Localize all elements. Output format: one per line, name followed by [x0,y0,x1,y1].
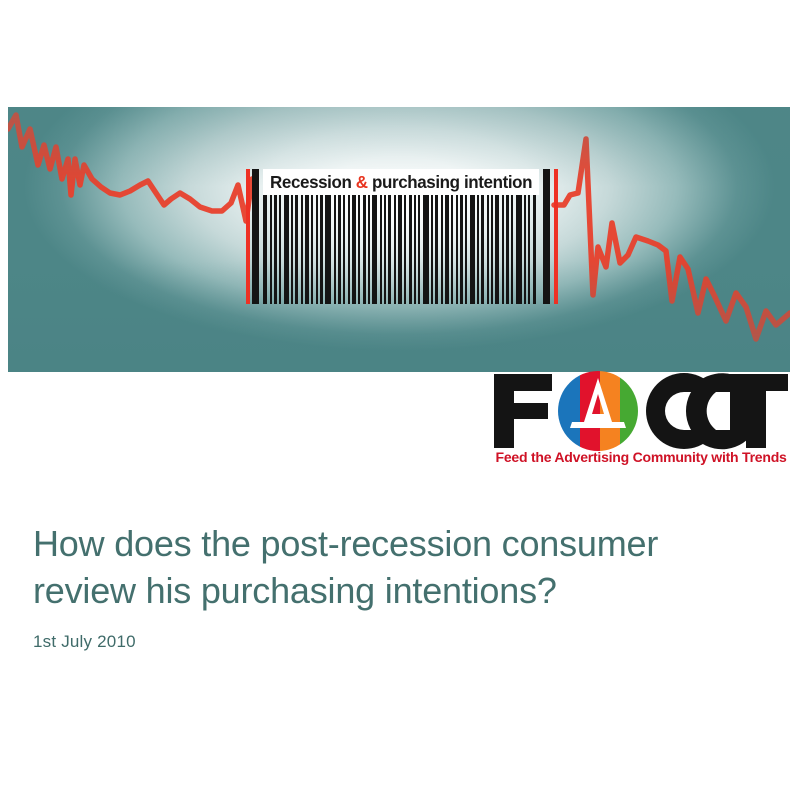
barcode-bar [305,195,309,304]
barcode-bar [394,195,396,304]
barcode-bar [320,195,323,304]
barcode-bar [511,195,513,304]
logo-emblem-a-gap [570,422,626,428]
barcode-bar [352,195,356,304]
barcode-bar [368,195,370,304]
barcode-guard-left-red [246,169,250,304]
barcode-bar [372,195,377,304]
barcode-bar [325,195,331,304]
barcode-bar [456,195,458,304]
barcode-bar [338,195,341,304]
barcode-bar [524,195,526,304]
title-block: How does the post-recession consumer rev… [33,520,773,652]
barcode-bar [470,195,475,304]
barcode-bar [423,195,429,304]
barcode-bar [384,195,386,304]
barcode-bar [431,195,433,304]
page-title-line-2: review his purchasing intentions? [33,567,773,614]
barcode-bar [363,195,366,304]
barcode-bar [487,195,489,304]
fact-wordmark-svg [488,370,794,452]
barcode-bar [435,195,438,304]
barcode-title-text: Recession & purchasing intention [270,172,532,193]
barcode-bar [465,195,467,304]
logo-emblem-a-circle [556,370,642,452]
barcode-bar [295,195,298,304]
barcode-bar [284,195,289,304]
fact-logo: Feed the Advertising Community with Tren… [488,370,794,475]
barcode-bar [414,195,416,304]
barcode-title-ampersand: & [356,172,368,192]
slide-date: 1st July 2010 [33,632,773,652]
barcode-bar [418,195,420,304]
barcode-bar [404,195,406,304]
barcode-bar [274,195,277,304]
barcode-bar [481,195,484,304]
slide-canvas: Recession & purchasing intention [0,0,800,800]
barcode-bar [334,195,336,304]
barcode-bar [263,195,267,304]
barcode-bar [343,195,345,304]
barcode-bar [516,195,522,304]
barcode-bar [409,195,412,304]
barcode-guard-right-black [543,169,550,304]
page-title: How does the post-recession consumer rev… [33,520,773,614]
barcode-bar [445,195,449,304]
barcode-bar [398,195,402,304]
hero-banner-image: Recession & purchasing intention [8,107,790,372]
barcode-bar [460,195,463,304]
chart-line-left [8,115,252,221]
barcode-bar [348,195,350,304]
barcode-bar [477,195,479,304]
barcode-title-suffix: purchasing intention [368,172,532,192]
barcode-bar [316,195,318,304]
fact-tagline: Feed the Advertising Community with Tren… [496,450,793,466]
barcode-guard-left-black [252,169,259,304]
barcode-bar [528,195,530,304]
barcode-bar [358,195,360,304]
barcode-bar [311,195,313,304]
barcode-bar [388,195,391,304]
barcode-bar [380,195,382,304]
barcode-bar [301,195,303,304]
barcode-bar [279,195,281,304]
barcode-title-prefix: Recession [270,172,356,192]
barcode-bar [506,195,509,304]
barcode-bar [441,195,443,304]
barcode-bar [291,195,293,304]
barcode-bar [451,195,453,304]
logo-letter-f [494,374,552,448]
barcode-bar [502,195,504,304]
barcode-graphic: Recession & purchasing intention [245,169,563,304]
barcode-bar [491,195,493,304]
barcode-guard-right-red [554,169,558,304]
barcode-bar [270,195,272,304]
barcode-title: Recession & purchasing intention [263,169,539,195]
chart-line-right [554,139,790,339]
barcode-bars [263,195,539,304]
barcode-bar [533,195,536,304]
barcode-bar [495,195,499,304]
page-title-line-1: How does the post-recession consumer [33,523,658,564]
